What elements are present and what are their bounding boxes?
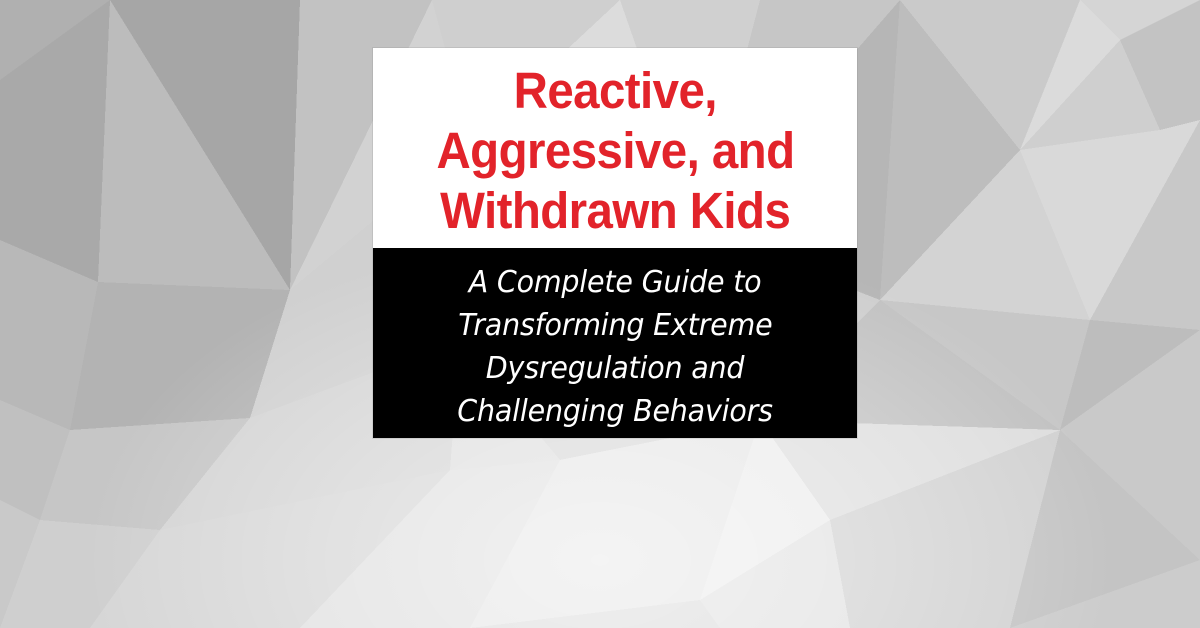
cover-title-line-2: Aggressive, and [436, 121, 794, 181]
cover-subtitle-panel: A Complete Guide to Transforming Extreme… [373, 248, 857, 438]
cover-subtitle-line-4: Challenging Behaviors [457, 390, 773, 433]
cover-title-panel: Reactive, Aggressive, and Withdrawn Kids [373, 48, 857, 248]
social-share-card: Reactive, Aggressive, and Withdrawn Kids… [0, 0, 1200, 628]
book-cover: Reactive, Aggressive, and Withdrawn Kids… [373, 48, 857, 438]
cover-subtitle-line-3: Dysregulation and [486, 347, 744, 390]
cover-title-line-3: Withdrawn Kids [440, 181, 790, 241]
cover-subtitle-line-2: Transforming Extreme [458, 304, 772, 347]
cover-subtitle-line-1: A Complete Guide to [469, 261, 762, 304]
cover-title-line-1: Reactive, [513, 61, 716, 121]
